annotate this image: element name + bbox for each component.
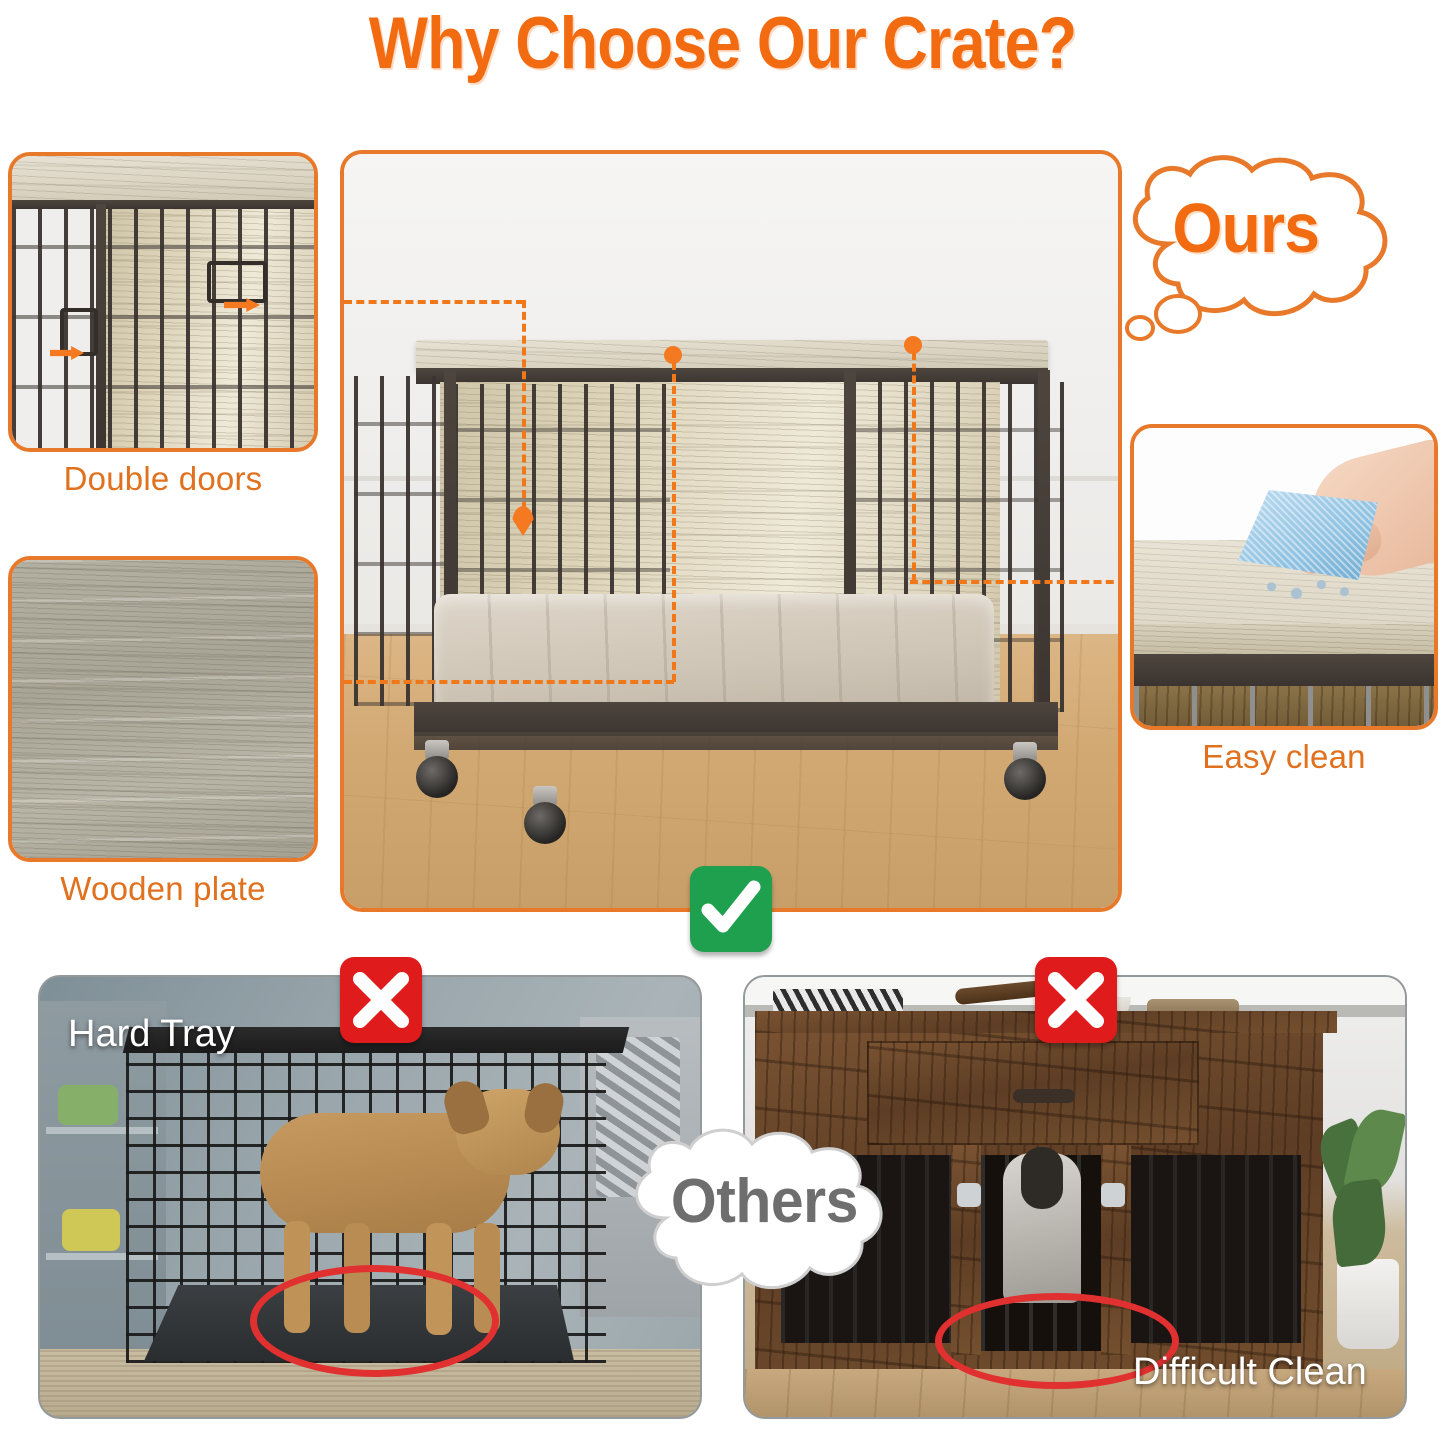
callout-line-double-doors — [344, 300, 524, 304]
feature-caption-double-doors: Double doors — [8, 460, 318, 498]
caster-wheel — [1004, 742, 1046, 800]
cross-mark-icon — [340, 957, 422, 1043]
drawer-handle-icon — [1013, 1089, 1075, 1103]
cross-mark-icon — [1035, 957, 1117, 1043]
feature-panel-wooden-plate — [8, 556, 318, 862]
cabinet-latch-icon — [1101, 1183, 1125, 1207]
status-badge-no-left — [340, 957, 422, 1043]
others-thought-bubble: Others — [610, 1120, 910, 1320]
main-product-panel — [340, 150, 1122, 912]
feature-panel-double-doors — [8, 152, 318, 452]
latch-side-icon — [60, 308, 98, 356]
feature-panel-easy-clean — [1130, 424, 1438, 730]
wood-grain-swatch — [12, 560, 314, 858]
callout-line-easy-clean-exit — [910, 580, 1122, 584]
caster-wheel — [416, 740, 458, 798]
potted-plant — [1317, 1109, 1405, 1349]
crate-base-frame — [414, 702, 1058, 736]
comparison-panel-hard-tray: Hard Tray — [40, 977, 700, 1417]
feature-caption-wooden-plate: Wooden plate — [8, 870, 318, 908]
double-doors-photo — [12, 156, 314, 448]
others-bubble-label: Others — [671, 1166, 858, 1237]
status-badge-no-right — [1035, 957, 1117, 1043]
main-product-photo — [344, 154, 1118, 908]
callout-line-double-doors-drop — [522, 300, 526, 510]
caster-wheel — [524, 786, 566, 844]
check-mark-icon — [690, 866, 772, 952]
callout-line-wooden-plate-exit — [344, 680, 674, 684]
water-droplets-icon — [1260, 578, 1356, 600]
comparison-label-hard-tray: Hard Tray — [68, 1013, 235, 1056]
comparison-label-difficult-clean: Difficult Clean — [1133, 1351, 1367, 1394]
easy-clean-photo — [1134, 428, 1434, 726]
crate-top-board — [416, 340, 1048, 370]
highlight-ellipse-hard-tray — [250, 1265, 499, 1377]
latch-front-icon — [207, 261, 267, 303]
feature-caption-easy-clean: Easy clean — [1130, 738, 1438, 776]
cabinet-latch-icon — [957, 1183, 981, 1207]
ours-bubble-trail-icon — [1122, 292, 1212, 342]
callout-line-wooden-plate — [672, 362, 676, 682]
page-title: Why Choose Our Crate? — [101, 2, 1344, 85]
status-badge-ok — [690, 866, 772, 952]
callout-line-easy-clean — [912, 352, 916, 582]
ours-bubble-label: Ours — [1172, 188, 1319, 268]
